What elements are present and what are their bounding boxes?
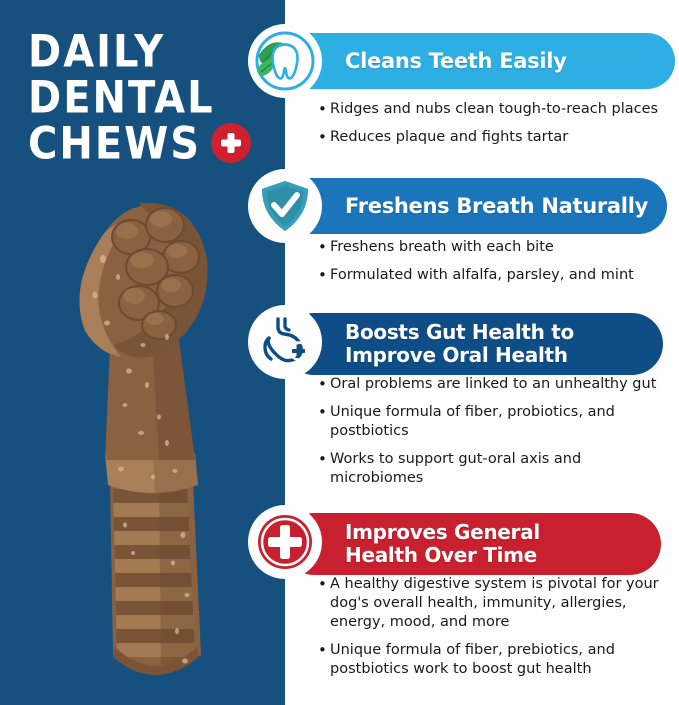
- bullet-text: Unique formula of fiber, prebiotics, and…: [330, 641, 668, 679]
- section-title: Cleans Teeth Easily: [345, 50, 567, 73]
- medical-cross-icon: [211, 123, 251, 163]
- page-title: DAILY DENTAL CHEWS: [28, 26, 268, 164]
- bullet-marker: •: [318, 450, 330, 469]
- title-line-2: DENTAL: [28, 72, 268, 124]
- section-banner-improves-general-health: Improves General Health Over Time: [283, 513, 661, 575]
- list-item: • Unique formula of fiber, prebiotics, a…: [318, 641, 668, 679]
- bullet-text: Formulated with alfalfa, parsley, and mi…: [330, 266, 668, 285]
- section-banner-freshens-breath: Freshens Breath Naturally: [283, 178, 667, 234]
- bullet-marker: •: [318, 100, 330, 119]
- list-item: • Unique formula of fiber, probiotics, a…: [318, 403, 668, 441]
- bullet-marker: •: [318, 403, 330, 422]
- bullet-text: Freshens breath with each bite: [330, 238, 668, 257]
- bullet-text: Ridges and nubs clean tough-to-reach pla…: [330, 100, 668, 119]
- title-line-1: DAILY: [28, 26, 268, 78]
- section-title: Improves General Health Over Time: [345, 521, 540, 567]
- section-bullets: • Ridges and nubs clean tough-to-reach p…: [318, 100, 668, 156]
- list-item: • A healthy digestive system is pivotal …: [318, 575, 668, 632]
- list-item: • Works to support gut-oral axis and mic…: [318, 450, 668, 488]
- bullet-marker: •: [318, 575, 330, 594]
- title-line-3: CHEWS: [28, 118, 201, 170]
- section-title: Freshens Breath Naturally: [345, 195, 648, 218]
- bullet-text: Oral problems are linked to an unhealthy…: [330, 375, 668, 394]
- medical-cross-circle-icon: [248, 505, 322, 579]
- section-banner-cleans-teeth: Cleans Teeth Easily: [283, 33, 675, 89]
- list-item: • Formulated with alfalfa, parsley, and …: [318, 266, 668, 285]
- list-item: • Freshens breath with each bite: [318, 238, 668, 257]
- bullet-text: A healthy digestive system is pivotal fo…: [330, 575, 668, 632]
- shield-check-icon: [248, 169, 322, 243]
- list-item: • Reduces plaque and fights tartar: [318, 128, 668, 147]
- bullet-marker: •: [318, 375, 330, 394]
- section-title: Boosts Gut Health to Improve Oral Health: [345, 321, 574, 367]
- section-bullets: • A healthy digestive system is pivotal …: [318, 575, 668, 688]
- bullet-text: Works to support gut-oral axis and micro…: [330, 450, 668, 488]
- bullet-text: Reduces plaque and fights tartar: [330, 128, 668, 147]
- bullet-marker: •: [318, 266, 330, 285]
- bullet-marker: •: [318, 238, 330, 257]
- section-bullets: • Oral problems are linked to an unhealt…: [318, 375, 668, 497]
- bullet-marker: •: [318, 641, 330, 660]
- section-banner-boosts-gut-health: Boosts Gut Health to Improve Oral Health: [283, 313, 663, 375]
- stomach-plus-icon: [248, 305, 322, 379]
- list-item: • Oral problems are linked to an unhealt…: [318, 375, 668, 394]
- bullet-marker: •: [318, 128, 330, 147]
- section-bullets: • Freshens breath with each bite • Formu…: [318, 238, 668, 294]
- list-item: • Ridges and nubs clean tough-to-reach p…: [318, 100, 668, 119]
- bullet-text: Unique formula of fiber, probiotics, and…: [330, 403, 668, 441]
